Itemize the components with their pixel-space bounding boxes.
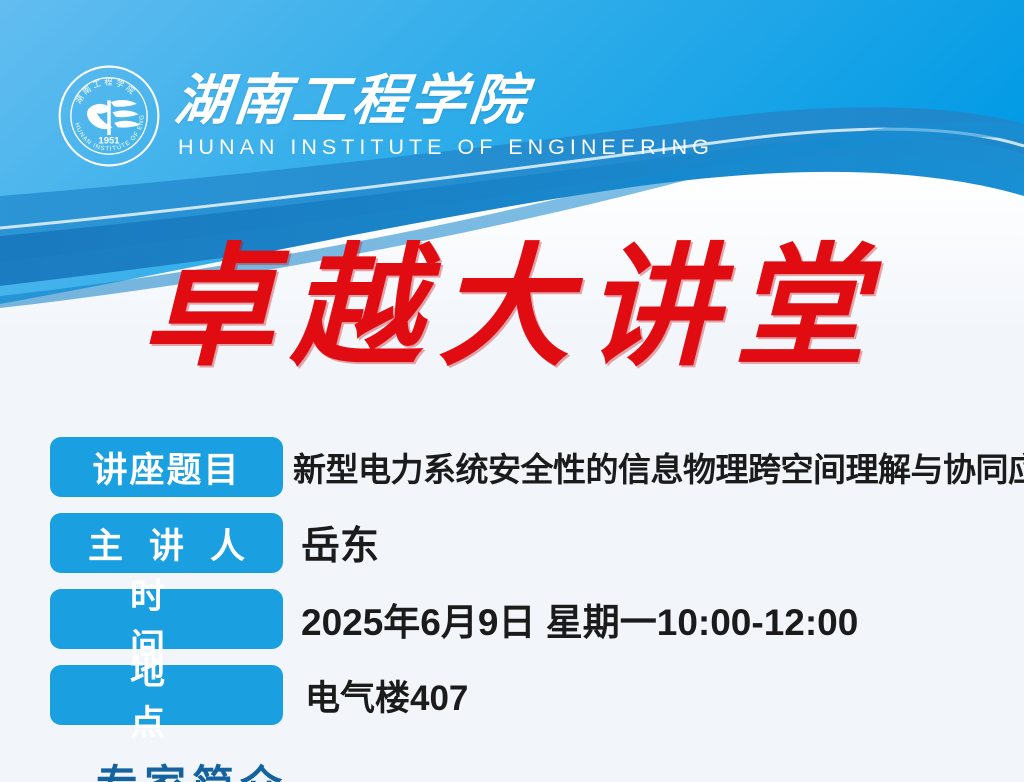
info-row-topic: 讲座题目 新型电力系统安全性的信息物理跨空间理解与协同应对机制 (0, 437, 1024, 497)
info-value-speaker: 岳东 (301, 515, 1024, 571)
info-label-place: 地点 (50, 665, 283, 725)
info-label-time: 时间 (50, 589, 283, 649)
university-logo-lockup: 1951 湖南工程学院 HUNAN INSTITUTE OF ENGINEERI… (57, 64, 714, 168)
info-value-time: 2025年6月9日 星期一10:00-12:00 (301, 592, 1024, 646)
info-row-place: 地点 电气楼407 (0, 665, 1024, 725)
wordmark-chinese: 湖南工程学院 (172, 73, 717, 128)
info-row-speaker: 主讲人 岳东 (0, 513, 1024, 573)
lecture-poster: 1951 湖南工程学院 HUNAN INSTITUTE OF ENGINEERI… (0, 0, 1024, 782)
info-row-time: 时间 2025年6月9日 星期一10:00-12:00 (0, 589, 1024, 649)
university-seal-icon: 1951 湖南工程学院 HUNAN INSTITUTE OF ENGINEERI… (57, 64, 161, 168)
wordmark-english: HUNAN INSTITUTE OF ENGINEERING (175, 137, 714, 159)
info-label-speaker: 主讲人 (50, 513, 283, 573)
info-value-place: 电气楼407 (305, 670, 1024, 721)
info-label-topic: 讲座题目 (50, 437, 283, 497)
page-title: 卓越大讲堂 (0, 243, 1024, 375)
info-value-topic: 新型电力系统安全性的信息物理跨空间理解与协同应对机制 (293, 443, 1024, 491)
lecture-info-block: 讲座题目 新型电力系统安全性的信息物理跨空间理解与协同应对机制 主讲人 岳东 时… (0, 437, 1024, 741)
bio-section-heading: 专家简介 (96, 752, 288, 782)
wordmark: 湖南工程学院 HUNAN INSTITUTE OF ENGINEERING (175, 73, 714, 159)
